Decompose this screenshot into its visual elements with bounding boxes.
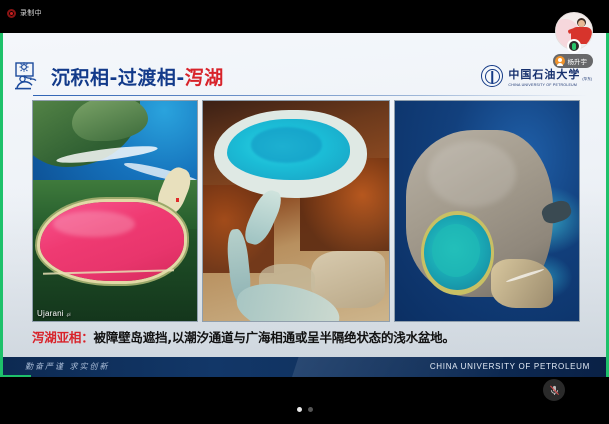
university-seal-icon (481, 65, 503, 87)
presenter-tile[interactable]: 杨升宇 (555, 12, 593, 50)
island-highlight (428, 141, 516, 207)
recording-dot-icon (7, 9, 16, 18)
title-underline (33, 95, 588, 96)
person-icon (555, 56, 565, 66)
shared-slide[interactable]: 沉积相-过渡相-泻湖 中国石油大学 (华东) CHINA UNIVERSITY … (3, 33, 606, 377)
recording-indicator: 录制中 (7, 8, 42, 18)
university-logo: 中国石油大学 (华东) CHINA UNIVERSITY OF PETROLEU… (481, 65, 592, 87)
title-main: 沉积相-过渡相- (51, 67, 185, 89)
presentation-teacher-icon (13, 61, 45, 91)
island-crater-lagoon-photo (394, 100, 580, 322)
footer-university-english: CHINA UNIVERSITY OF PETROLEUM (430, 362, 590, 371)
avatar-mic-badge-icon (567, 39, 581, 53)
mic-toggle-button[interactable] (543, 379, 565, 401)
turquoise-lagoon-tidal-channel-photo (202, 100, 390, 322)
avatar-face (578, 20, 585, 27)
slide-footer: 勤奋严谨 求实创新 CHINA UNIVERSITY OF PETROLEUM (3, 357, 606, 377)
photo-watermark: Ujarani .pl (37, 309, 71, 318)
mic-muted-icon (548, 384, 561, 397)
pink-lake-hillier-photo: Ujarani .pl (32, 100, 198, 322)
marker-dot (176, 198, 179, 202)
page-title: 沉积相-过渡相-泻湖 (51, 63, 224, 90)
page-indicator[interactable] (297, 407, 313, 412)
page-dot-1[interactable] (297, 407, 302, 412)
slide-caption: 泻湖亚相：被障壁岛遮挡,以潮汐通道与广海相通或呈半隔绝状态的浅水盆地。 (32, 327, 581, 346)
caption-key: 泻湖亚相： (32, 330, 94, 345)
meeting-screen: 录制中 杨升宇 (0, 0, 609, 424)
title-highlight: 泻湖 (185, 67, 224, 89)
lagoon-deep-water (251, 127, 322, 162)
photo-row: Ujarani .pl (32, 100, 581, 322)
caption-body: 被障壁岛遮挡,以潮汐通道与广海相通或呈半隔绝状态的浅水盆地。 (94, 330, 455, 345)
lagoon-inner-water (432, 224, 480, 277)
recording-label: 录制中 (20, 8, 42, 18)
footer-motto-calligraphy: 勤奋严谨 求实创新 (25, 361, 110, 372)
watermark-suffix: .pl (66, 312, 71, 318)
watermark-text: Ujarani (37, 309, 64, 318)
page-dot-2[interactable] (308, 407, 313, 412)
slide-border-left (0, 33, 3, 377)
university-name-en: CHINA UNIVERSITY OF PETROLEUM (508, 83, 592, 87)
university-name-suffix: (华东) (582, 77, 592, 82)
bottom-control-bar (0, 377, 609, 424)
top-status-bar: 录制中 (0, 0, 609, 30)
lake-highlight (53, 211, 135, 237)
participant-name-badge: 杨升宇 (553, 54, 594, 68)
rocky-shore (491, 259, 554, 307)
slide-title-row: 沉积相-过渡相-泻湖 (13, 61, 224, 91)
participant-name: 杨升宇 (568, 56, 588, 66)
